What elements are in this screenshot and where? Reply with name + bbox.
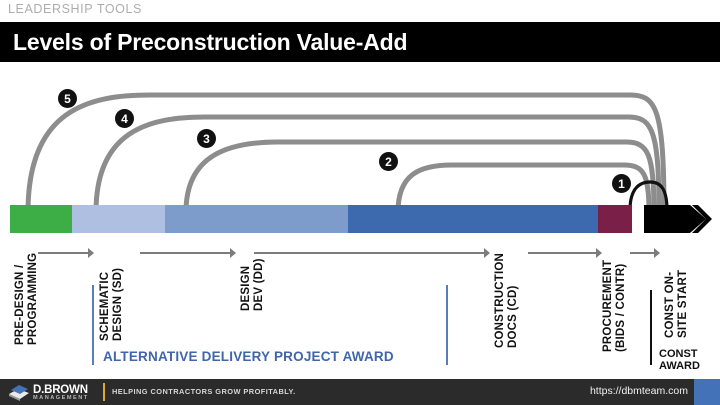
phase-segment-const-onsite-start[interactable] [644, 203, 712, 235]
phase-label-procurement: PROCUREMENT (BIDS / CONTR) [602, 260, 627, 352]
alt-delivery-bracket-left [92, 285, 94, 365]
flow-arrow-3 [484, 248, 490, 258]
flow-connector-2 [140, 252, 230, 254]
flow-connector-4 [528, 252, 596, 254]
footer-logo-subtitle: MANAGEMENT [33, 395, 89, 401]
flow-arrow-2 [230, 248, 236, 258]
title-bar: Levels of Preconstruction Value-Add [0, 22, 720, 62]
footer-divider [103, 383, 105, 401]
phase-label-line: DESIGN (SD) [112, 268, 125, 341]
phase-segment-procurement[interactable] [598, 205, 632, 233]
phase-label-line: (BIDS / CONTR) [615, 260, 628, 352]
flow-arrow-1 [88, 248, 94, 258]
phase-label-pre-design: PRE-DESIGN / PROGRAMMING [14, 253, 39, 345]
arc-level-3 [186, 142, 654, 212]
flow-arrow-5 [654, 248, 660, 258]
phase-segment-construction-docs[interactable] [348, 205, 598, 233]
const-award-line: AWARD [659, 360, 700, 372]
phase-label-line: PROCUREMENT [602, 260, 615, 352]
phase-label-line: SITE START [677, 270, 690, 338]
phase-label-line: DEV (DD) [253, 258, 266, 311]
phase-label-line: DESIGN [240, 258, 253, 311]
const-award-bracket [650, 290, 652, 365]
badge-level-5[interactable]: 5 [58, 89, 77, 108]
footer-accent-block [694, 379, 720, 405]
flow-arrow-4 [596, 248, 602, 258]
phase-label-line: CONST ON- [664, 270, 677, 338]
phase-label-design-dev: DESIGN DEV (DD) [240, 258, 265, 311]
badge-level-3[interactable]: 3 [197, 129, 216, 148]
badge-level-4[interactable]: 4 [115, 109, 134, 128]
slide-canvas: LEADERSHIP TOOLS Levels of Preconstructi… [0, 0, 720, 405]
phase-label-line: PRE-DESIGN / [14, 253, 27, 345]
const-award-caption: CONST AWARD [659, 348, 700, 372]
page-title: Levels of Preconstruction Value-Add [13, 29, 407, 56]
alternative-delivery-caption: ALTERNATIVE DELIVERY PROJECT AWARD [103, 349, 394, 364]
phase-label-line: SCHEMATIC [99, 268, 112, 341]
flow-connector-1 [38, 252, 88, 254]
phase-label-line: PROGRAMMING [27, 253, 40, 345]
dbrown-logo-icon [8, 383, 30, 401]
phase-label-line: DOCS (CD) [507, 253, 520, 348]
phase-segment-schematic-design[interactable] [72, 205, 165, 233]
footer-tagline: HELPING CONTRACTORS GROW PROFITABLY. [112, 387, 296, 396]
phase-segment-design-dev[interactable] [165, 205, 348, 233]
badge-level-2[interactable]: 2 [379, 152, 398, 171]
phase-label-schematic-design: SCHEMATIC DESIGN (SD) [99, 268, 124, 341]
footer-url[interactable]: https://dbmteam.com [590, 385, 688, 397]
eyebrow-label: LEADERSHIP TOOLS [8, 2, 142, 16]
phase-label-line: CONSTRUCTION [494, 253, 507, 348]
phase-label-construction-docs: CONSTRUCTION DOCS (CD) [494, 253, 519, 348]
value-level-arcs [0, 62, 720, 217]
badge-level-1[interactable]: 1 [612, 174, 631, 193]
footer-bar: D.BROWN MANAGEMENT HELPING CONTRACTORS G… [0, 379, 720, 405]
flow-connector-3 [254, 252, 484, 254]
phase-label-const-onsite-start: CONST ON- SITE START [664, 270, 689, 338]
alt-delivery-bracket-right [446, 285, 448, 365]
flow-connector-5 [630, 252, 654, 254]
const-award-line: CONST [659, 348, 700, 360]
phase-segment-pre-design[interactable] [10, 205, 72, 233]
